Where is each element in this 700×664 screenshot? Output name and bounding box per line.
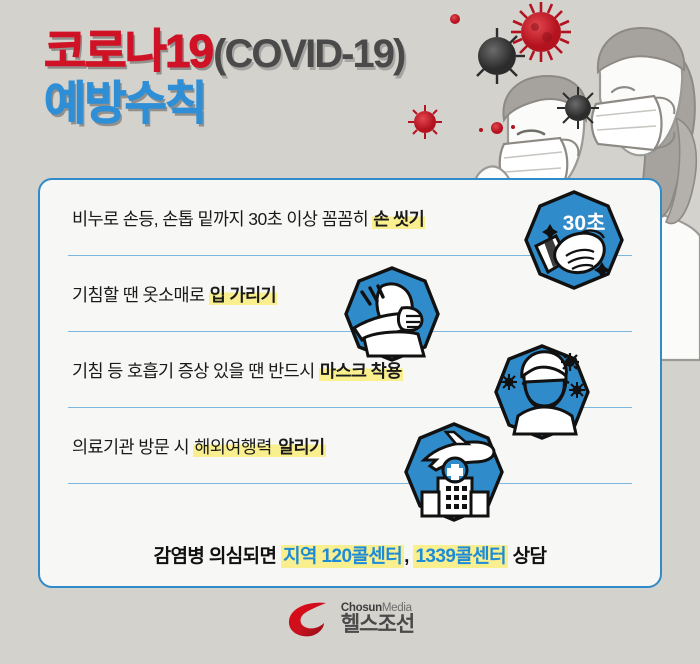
title-subtitle: 예방수칙 — [44, 80, 205, 126]
banner-tail: 상담 — [508, 546, 546, 567]
rule-text-4-highlight-plain: 해외여행력 — [193, 437, 277, 457]
rule-text-1-highlight: 손 씻기 — [372, 209, 425, 229]
rule-text-1: 비누로 손등, 손톱 밑까지 30초 이상 꼼꼼히 손 씻기 — [72, 206, 425, 231]
chosun-media-swoosh-logo-icon — [286, 600, 332, 638]
rule-text-1-plain: 비누로 손등, 손톱 밑까지 30초 이상 꼼꼼히 — [72, 209, 372, 229]
call-center-banner: 감염병 의심되면 지역 120콜센터, 1339콜센터 상담 — [40, 541, 660, 568]
rule-text-4: 의료기관 방문 시 해외여행력 알리기 — [72, 434, 326, 459]
title-korean: 코로나19 — [44, 28, 212, 74]
rule-text-2-highlight: 입 가리기 — [209, 285, 277, 305]
page-title: 코로나19 (COVID-19) 예방수칙 — [44, 28, 404, 126]
rule-text-4-plain: 의료기관 방문 시 — [72, 437, 193, 457]
rule-text-2-plain: 기침할 땐 옷소매로 — [72, 285, 209, 305]
banner-call-center-1: 지역 120콜센터 — [281, 545, 404, 568]
wear-mask-icon — [492, 342, 592, 442]
banner-call-center-2: 1339콜센터 — [413, 545, 508, 568]
banner-lead: 감염병 의심되면 — [154, 546, 282, 567]
cough-into-sleeve-icon — [342, 264, 442, 364]
footer-logo: ChosunMedia 헬스조선 — [0, 600, 700, 638]
row-separator-4 — [68, 483, 632, 484]
prevention-rules-card: 비누로 손등, 손톱 밑까지 30초 이상 꼼꼼히 손 씻기 기침할 땐 옷소매… — [38, 178, 662, 588]
logo-brand-ko: 헬스조선 — [341, 614, 414, 636]
logo-text-block: ChosunMedia 헬스조선 — [341, 602, 414, 636]
rule-text-3-plain: 기침 등 호흡기 증상 있을 땐 반드시 — [72, 361, 319, 381]
title-english: (COVID-19) — [213, 34, 404, 74]
title-line-secondary: 예방수칙 — [44, 80, 404, 126]
title-line-primary: 코로나19 (COVID-19) — [44, 28, 404, 74]
hand-washing-icon: 30초 — [522, 188, 626, 292]
hospital-travel-history-icon — [402, 420, 506, 524]
rule-text-4-highlight: 알리기 — [277, 437, 326, 457]
rule-text-2: 기침할 땐 옷소매로 입 가리기 — [72, 282, 277, 307]
